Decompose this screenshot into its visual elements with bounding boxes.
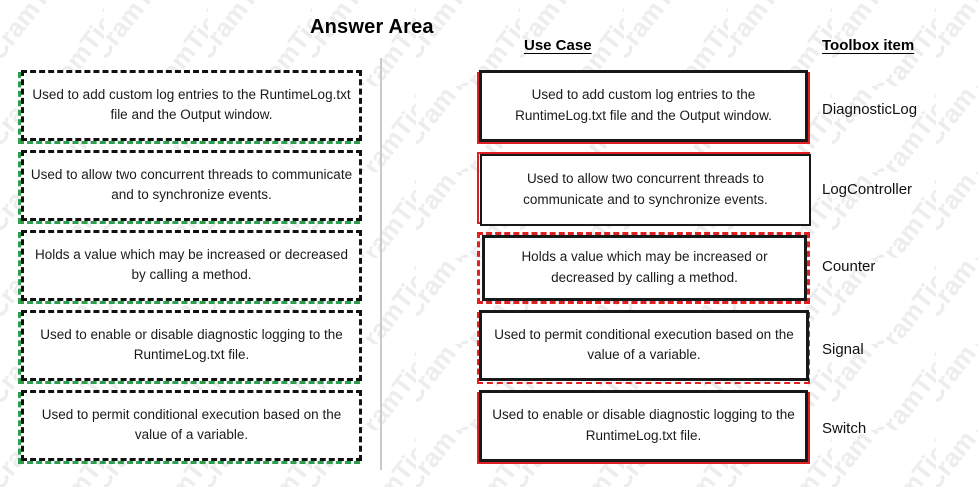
dropped-item-box[interactable]: Used to allow two concurrent threads to … xyxy=(21,150,362,221)
answer-slot-4[interactable]: Used to enable or disable diagnostic log… xyxy=(18,312,360,384)
toolbox-item-counter[interactable]: Counter xyxy=(822,258,875,275)
toolbox-item-logcontroller[interactable]: LogController xyxy=(822,181,912,198)
column-divider xyxy=(380,58,382,470)
answer-slot-5-text: Used to permit conditional execution bas… xyxy=(30,405,353,447)
use-case-item-box[interactable]: Used to permit conditional execution bas… xyxy=(479,310,809,381)
answer-slot-2-text: Used to allow two concurrent threads to … xyxy=(30,165,353,207)
answer-slot-1-text: Used to add custom log entries to the Ru… xyxy=(30,85,353,127)
use-case-item-5-text: Used to enable or disable diagnostic log… xyxy=(488,405,799,447)
dropped-item-box[interactable]: Used to permit conditional execution bas… xyxy=(21,390,362,461)
answer-slot-1[interactable]: Used to add custom log entries to the Ru… xyxy=(18,72,360,144)
use-case-item-2[interactable]: Used to allow two concurrent threads to … xyxy=(477,152,810,224)
dropped-item-box[interactable]: Used to enable or disable diagnostic log… xyxy=(21,310,362,381)
answer-slot-4-text: Used to enable or disable diagnostic log… xyxy=(30,325,353,367)
use-case-item-5[interactable]: Used to enable or disable diagnostic log… xyxy=(477,392,810,464)
answer-slot-5[interactable]: Used to permit conditional execution bas… xyxy=(18,392,360,464)
use-case-item-1-text: Used to add custom log entries to the Ru… xyxy=(488,85,799,127)
dropped-item-box[interactable]: Used to add custom log entries to the Ru… xyxy=(21,70,362,141)
toolbox-item-signal[interactable]: Signal xyxy=(822,341,864,358)
answer-slot-3-text: Holds a value which may be increased or … xyxy=(30,245,353,287)
answer-slot-2[interactable]: Used to allow two concurrent threads to … xyxy=(18,152,360,224)
toolbox-item-switch[interactable]: Switch xyxy=(822,420,866,437)
page-title: Answer Area xyxy=(310,16,434,39)
use-case-item-3[interactable]: Holds a value which may be increased or … xyxy=(477,232,810,304)
use-case-item-2-text: Used to allow two concurrent threads to … xyxy=(488,169,803,211)
use-case-item-box[interactable]: Used to allow two concurrent threads to … xyxy=(480,154,811,226)
use-case-column-header: Use Case xyxy=(524,37,592,54)
use-case-item-box[interactable]: Holds a value which may be increased or … xyxy=(482,235,807,301)
use-case-item-3-text: Holds a value which may be increased or … xyxy=(491,247,798,289)
use-case-item-4-text: Used to permit conditional execution bas… xyxy=(488,325,800,367)
toolbox-item-diagnosticlog[interactable]: DiagnosticLog xyxy=(822,101,917,118)
use-case-item-box[interactable]: Used to add custom log entries to the Ru… xyxy=(479,70,808,142)
dropped-item-box[interactable]: Holds a value which may be increased or … xyxy=(21,230,362,301)
use-case-item-1[interactable]: Used to add custom log entries to the Ru… xyxy=(477,72,810,144)
toolbox-column-header: Toolbox item xyxy=(822,37,914,54)
answer-slot-3[interactable]: Holds a value which may be increased or … xyxy=(18,232,360,304)
question-root: Answer Area Use Case Toolbox item Used t… xyxy=(0,0,978,487)
use-case-item-box[interactable]: Used to enable or disable diagnostic log… xyxy=(479,390,808,462)
use-case-item-4[interactable]: Used to permit conditional execution bas… xyxy=(477,312,810,384)
